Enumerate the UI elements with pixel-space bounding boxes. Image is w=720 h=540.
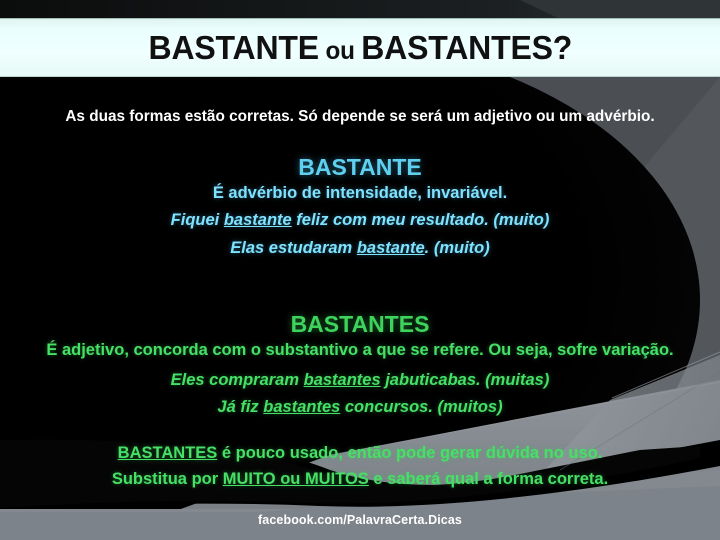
example-1-before: Fiquei	[171, 211, 224, 229]
example-bastante-1: Fiquei bastante feliz com meu resultado.…	[0, 211, 720, 230]
example-bastantes-2: Já fiz bastantes concursos. (muitos)	[0, 398, 720, 417]
example-3-highlight: bastantes	[304, 371, 381, 389]
example-2-highlight: bastante	[357, 239, 425, 257]
title-word-singular: BASTANTE	[148, 29, 318, 66]
page-title: BASTANTE ou BASTANTES?	[148, 31, 572, 64]
tip-1-after: é pouco usado, então pode gerar dúvida n…	[217, 444, 602, 462]
title-word-plural: BASTANTES?	[361, 29, 572, 66]
example-4-before: Já fiz	[217, 398, 263, 416]
heading-bastante: BASTANTE	[0, 154, 720, 181]
footer-credit: facebook.com/PalavraCerta.Dicas	[0, 513, 720, 527]
definition-bastantes: É adjetivo, concorda com o substantivo a…	[0, 341, 720, 360]
example-2-before: Elas estudaram	[230, 239, 357, 257]
tip-2-highlight-muitos: MUITOS	[305, 470, 369, 488]
tip-2-middle: ou	[276, 470, 305, 488]
example-4-highlight: bastantes	[263, 398, 340, 416]
tip-1-highlight: BASTANTES	[118, 444, 218, 462]
subtitle-text: As duas formas estão corretas. Só depend…	[4, 108, 717, 126]
example-1-highlight: bastante	[224, 211, 292, 229]
tip-2-highlight-muito: MUITO	[223, 470, 276, 488]
tip-2-before: Substitua por	[112, 470, 223, 488]
example-bastante-2: Elas estudaram bastante. (muito)	[0, 239, 720, 258]
example-2-after: . (muito)	[425, 239, 490, 257]
definition-bastante: É advérbio de intensidade, invariável.	[0, 184, 720, 203]
heading-bastantes: BASTANTES	[0, 311, 720, 338]
tip-2-after: e saberá qual a forma correta.	[369, 470, 608, 488]
title-banner: BASTANTE ou BASTANTES?	[0, 18, 720, 77]
tip-line-1: BASTANTES é pouco usado, então pode gera…	[0, 444, 720, 463]
slide-canvas: BASTANTE ou BASTANTES? As duas formas es…	[0, 0, 720, 540]
example-3-after: jabuticabas. (muitas)	[381, 371, 550, 389]
example-4-after: concursos. (muitos)	[340, 398, 502, 416]
example-3-before: Eles compraram	[171, 371, 304, 389]
tip-line-2: Substitua por MUITO ou MUITOS e saberá q…	[0, 470, 720, 489]
example-bastantes-1: Eles compraram bastantes jabuticabas. (m…	[0, 371, 720, 390]
example-1-after: feliz com meu resultado. (muito)	[292, 211, 550, 229]
title-conjunction: ou	[319, 37, 361, 65]
